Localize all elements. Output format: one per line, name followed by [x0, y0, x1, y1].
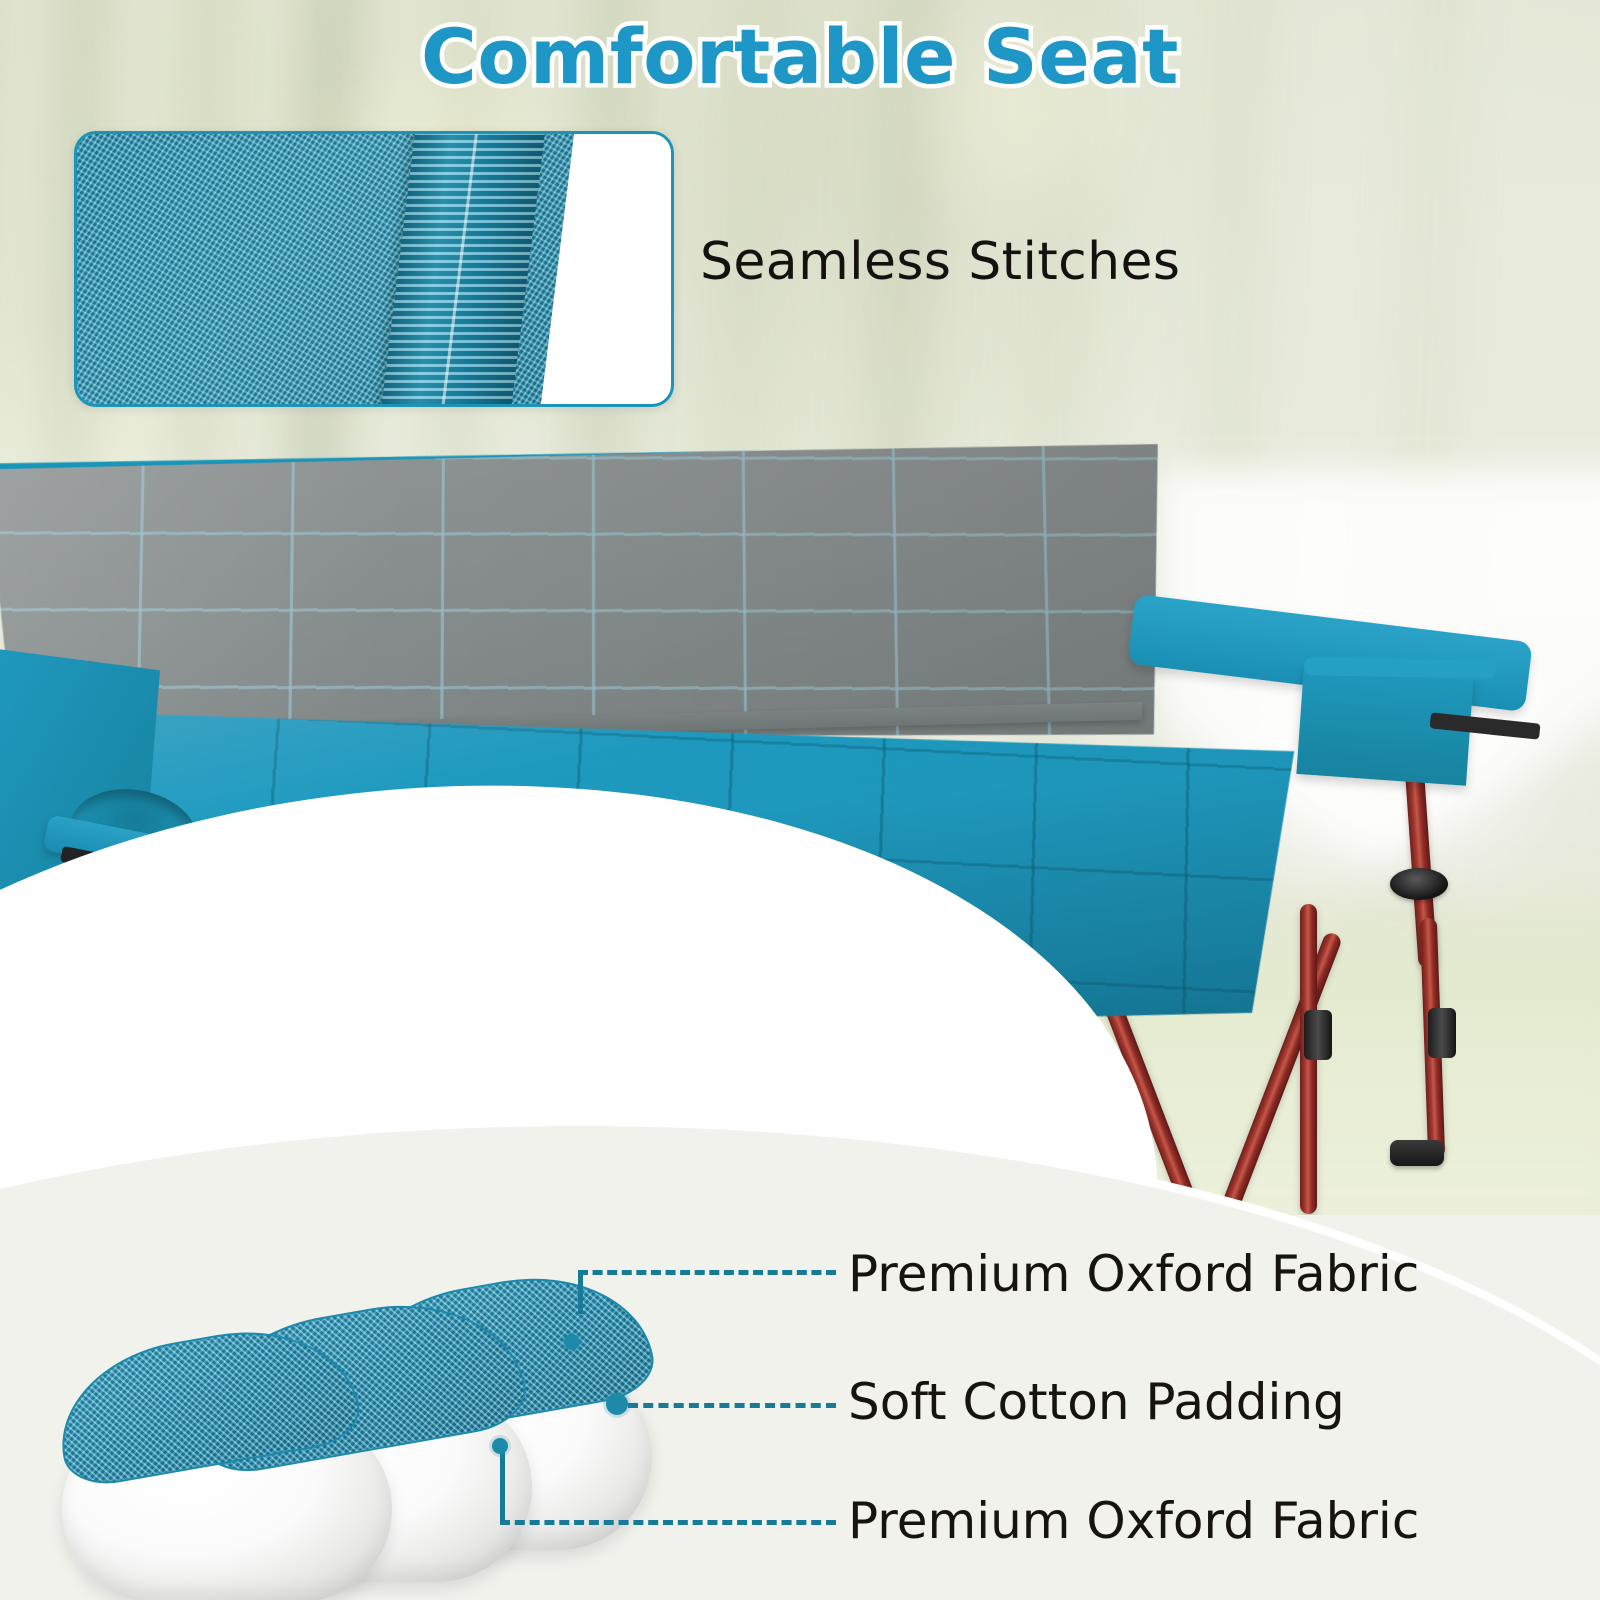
callout-label-premium-oxford-fabric-bottom: Premium Oxford Fabric: [848, 1492, 1419, 1550]
fabric-weave-closeup-icon: [74, 131, 674, 407]
callout-dot-bottom: [492, 1438, 508, 1454]
leader-segment: [500, 1520, 836, 1525]
callout-dot-top: [564, 1334, 580, 1350]
leader-segment: [578, 1270, 583, 1314]
callout-label-soft-cotton-padding: Soft Cotton Padding: [848, 1373, 1345, 1431]
leader-segment: [578, 1270, 836, 1275]
page-title: Comfortable Seat: [0, 12, 1600, 101]
frame-foot: [1390, 1140, 1444, 1166]
leader-segment: [500, 1450, 505, 1520]
callout-dot-middle: [606, 1393, 628, 1415]
leader-segment: [628, 1403, 836, 1408]
frame-hub: [1390, 868, 1448, 900]
seamless-stitches-label: Seamless Stitches: [700, 232, 1180, 292]
frame-collar: [1304, 1010, 1332, 1060]
callout-label-premium-oxford-fabric-top: Premium Oxford Fabric: [848, 1245, 1419, 1303]
frame-collar: [1428, 1008, 1456, 1058]
